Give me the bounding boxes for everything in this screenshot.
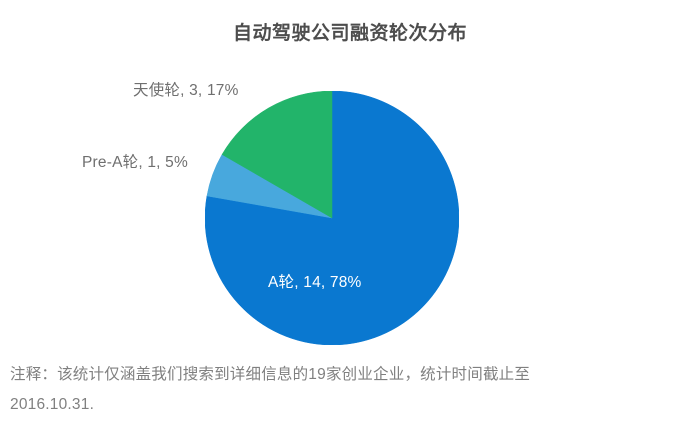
- page-title: 自动驾驶公司融资轮次分布: [0, 18, 700, 45]
- footnote-line-1: 注释：该统计仅涵盖我们搜索到详细信息的19家创业企业，统计时间截止至: [10, 360, 694, 390]
- pie-chart: [205, 91, 459, 345]
- pie-slice-group: [205, 91, 459, 345]
- footnote-line-2: 2016.10.31.: [10, 390, 694, 420]
- pie-label-series-a-round: A轮, 14, 78%: [268, 270, 362, 292]
- pie-label-angel-round: 天使轮, 3, 17%: [133, 78, 239, 100]
- pie-label-pre-a-round: Pre-A轮, 1, 5%: [82, 150, 188, 172]
- footnote: 注释：该统计仅涵盖我们搜索到详细信息的19家创业企业，统计时间截止至 2016.…: [10, 360, 694, 420]
- chart-canvas: 自动驾驶公司融资轮次分布 天使轮, 3, 17% Pre-A轮, 1, 5% A…: [0, 0, 700, 433]
- pie-chart-svg: [205, 91, 459, 345]
